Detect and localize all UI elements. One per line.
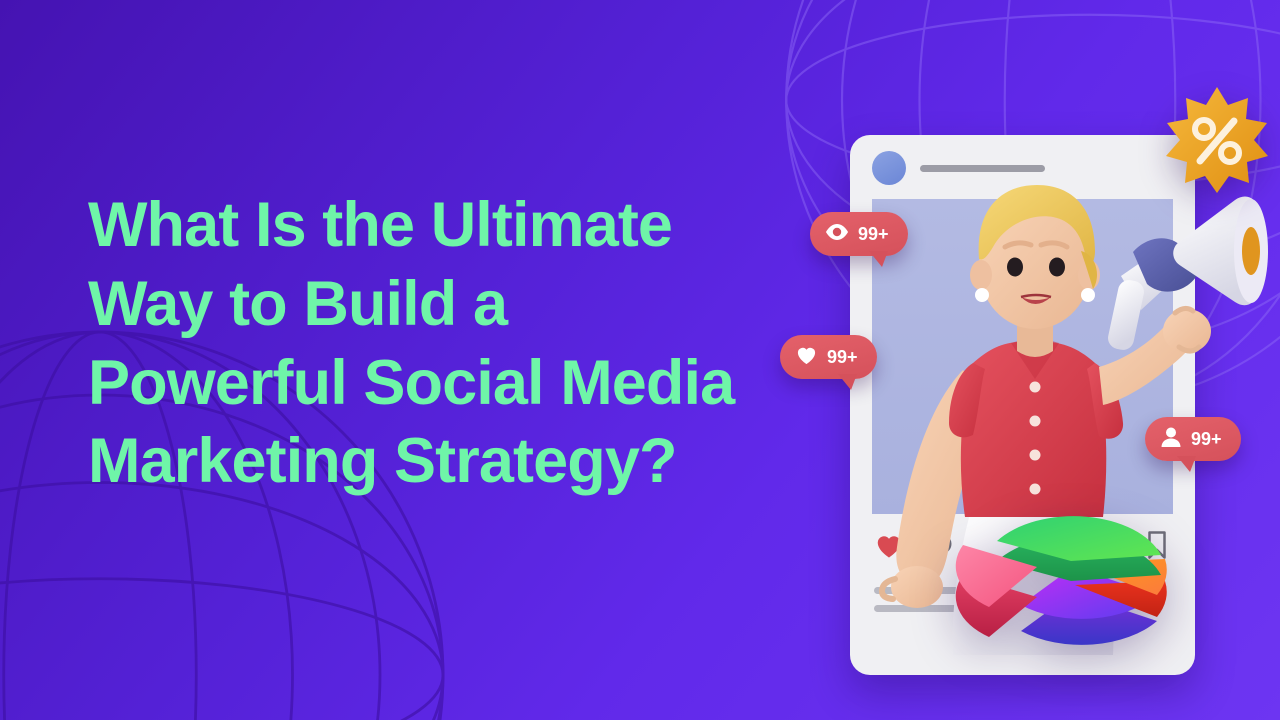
followers-badge: 99+ [1145, 417, 1241, 461]
views-badge: 99+ [810, 212, 908, 256]
badge-tail [869, 251, 888, 267]
likes-badge: 99+ [780, 335, 877, 379]
badge-tail [1177, 456, 1196, 472]
badge-tail [838, 374, 857, 390]
person-icon [1160, 426, 1182, 453]
discount-starburst-badge [1162, 85, 1272, 195]
eye-icon [825, 223, 849, 246]
illustration-group: 99+ 99+ 99+ [760, 60, 1280, 720]
pie-chart-3d [925, 455, 1220, 695]
megaphone-icon [1085, 180, 1275, 365]
followers-count: 99+ [1191, 429, 1222, 450]
heart-icon [795, 344, 818, 370]
likes-count: 99+ [827, 347, 858, 368]
headline-text: What Is the Ultimate Way to Build a Powe… [88, 186, 788, 501]
social-media-banner: What Is the Ultimate Way to Build a Powe… [0, 0, 1280, 720]
views-count: 99+ [858, 224, 889, 245]
